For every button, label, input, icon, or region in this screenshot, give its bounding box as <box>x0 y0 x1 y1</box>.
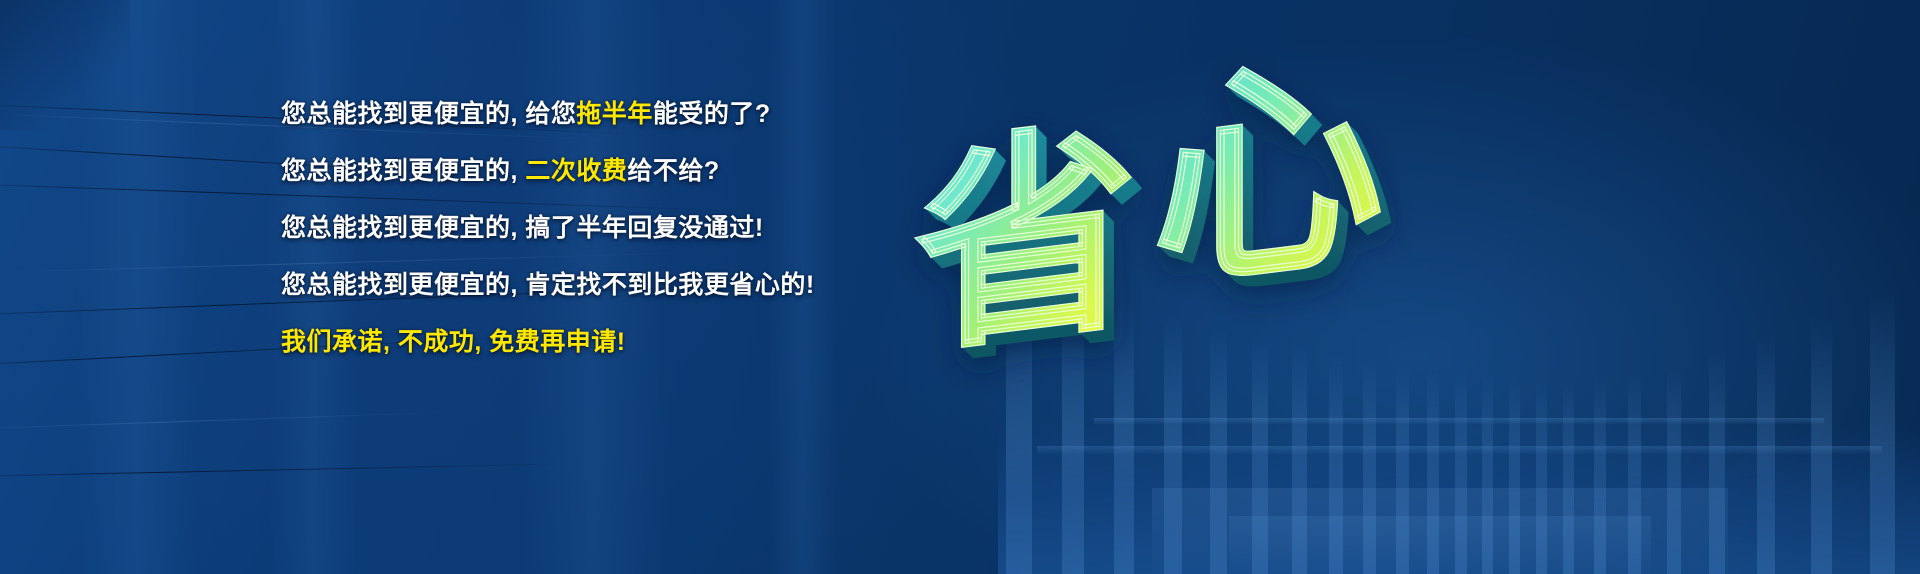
copy-line-2-part-1: 您总能找到更便宜的, <box>281 157 525 185</box>
shengxin-svg: 省 省 省 省 省 省 省 省 省 省 省 省 心 心 <box>900 28 1460 428</box>
copy-line-4-text: 您总能找到更便宜的, 肯定找不到比我更省心的! <box>281 271 815 299</box>
char-xin-face: 心 <box>1152 25 1384 323</box>
copy-line-4: 您总能找到更便宜的, 肯定找不到比我更省心的! <box>281 257 901 314</box>
pillar <box>1594 378 1606 574</box>
pillar <box>1509 378 1520 574</box>
floor-glow <box>998 424 1920 574</box>
char-sheng-face: 省 <box>914 98 1138 387</box>
copy-line-2-part-3: 给不给? <box>627 157 719 185</box>
copy-line-1-part-3: 能受的了? <box>653 100 771 128</box>
copy-line-1-highlight: 拖半年 <box>576 100 653 128</box>
ledge <box>1037 446 1882 454</box>
copy-line-2-highlight: 二次收费 <box>525 157 627 185</box>
plinth <box>1229 516 1651 574</box>
pillar <box>1870 292 1895 574</box>
copy-line-1-part-1: 您总能找到更便宜的, 给您 <box>281 100 576 128</box>
shengxin-3d-title: 省 省 省 省 省 省 省 省 省 省 省 省 心 心 <box>900 28 1460 428</box>
char-xin-extrusion: 心 心 心 心 心 心 心 心 心 心 心 心 <box>1152 25 1395 334</box>
copy-line-1: 您总能找到更便宜的, 给您拖半年能受的了? <box>281 86 901 143</box>
char-sheng-extrusion: 省 省 省 省 省 省 省 省 省 省 省 省 <box>914 98 1149 398</box>
copy-line-3: 您总能找到更便宜的, 搞了半年回复没通过! <box>281 200 901 257</box>
pillar <box>1482 376 1493 574</box>
copy-line-3-text: 您总能找到更便宜的, 搞了半年回复没通过! <box>281 214 764 242</box>
pillar <box>1709 352 1725 574</box>
pillar <box>1563 381 1574 574</box>
pillar <box>1536 380 1547 574</box>
pillar <box>1757 336 1775 574</box>
copy-line-2: 您总能找到更便宜的, 二次收费给不给? <box>281 143 901 200</box>
pillar <box>1811 316 1832 574</box>
copy-line-5-text: 我们承诺, 不成功, 免费再申请! <box>281 328 626 356</box>
promo-banner: 您总能找到更便宜的, 给您拖半年能受的了? 您总能找到更便宜的, 二次收费给不给… <box>0 0 1920 574</box>
pillar <box>1667 364 1681 574</box>
copy-line-5-guarantee: 我们承诺, 不成功, 免费再申请! <box>281 314 901 371</box>
pillar <box>1628 372 1641 574</box>
marketing-copy: 您总能找到更便宜的, 给您拖半年能受的了? 您总能找到更便宜的, 二次收费给不给… <box>281 86 901 371</box>
plinth <box>1152 488 1728 574</box>
